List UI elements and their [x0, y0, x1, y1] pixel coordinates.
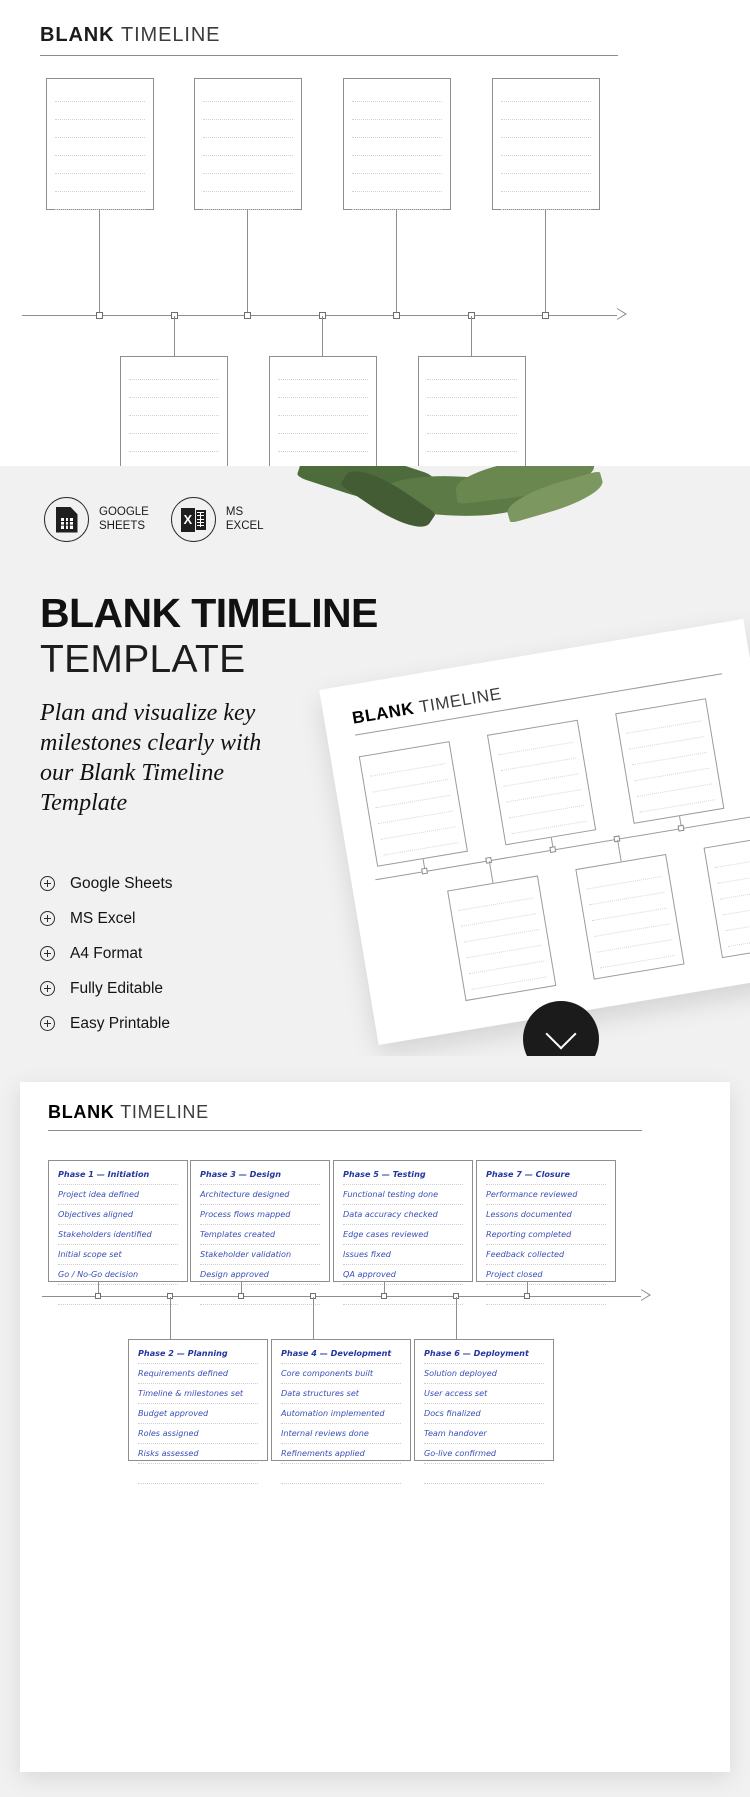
phase-title: Phase 4 — Development: [281, 1348, 401, 1364]
sheet-milestone-node-7: [524, 1293, 530, 1299]
preview-milestone-node-3: [549, 846, 556, 853]
phase-item: Stakeholders identified: [58, 1229, 178, 1245]
page-title: BLANK TIMELINE: [40, 24, 618, 47]
marketing-section: BLANK TIMELINE: [0, 466, 750, 1056]
milestone-node-7: [542, 312, 549, 319]
circled-plus-icon: [40, 911, 55, 926]
timeline-card-top-1: [46, 78, 154, 210]
marketing-heading: BLANK TIMELINE: [40, 590, 378, 637]
badge-line2: EXCEL: [226, 520, 264, 532]
feature-label: A4 Format: [70, 945, 142, 963]
card-ruled-lines: [427, 379, 517, 477]
phase-card-5: Phase 5 — Testing Functional testing don…: [333, 1160, 473, 1282]
phase-item: Project idea defined: [58, 1189, 178, 1205]
phase-item: Functional testing done: [343, 1189, 463, 1205]
preview-card-bottom-3: [704, 833, 750, 959]
arrow-right-icon: [641, 1289, 651, 1301]
connector-top-2: [247, 210, 248, 315]
phase-item: Internal reviews done: [281, 1428, 401, 1444]
sheet-header: BLANK TIMELINE: [48, 1102, 642, 1131]
badge-ms-excel[interactable]: MS EXCEL: [171, 497, 264, 542]
ms-excel-icon: [171, 497, 216, 542]
phase-item: Project closed: [486, 1269, 606, 1285]
phase-item: Team handover: [424, 1428, 544, 1444]
marketing-lede: Plan and visualize key milestones clearl…: [40, 698, 290, 818]
badge-line1: GOOGLE: [99, 506, 149, 518]
badge-google-sheets[interactable]: GOOGLE SHEETS: [44, 497, 149, 542]
connector-top-3: [396, 210, 397, 315]
circled-plus-icon: [40, 1016, 55, 1031]
marketing-subheading: TEMPLATE: [40, 638, 245, 682]
preview-card-top-1: [359, 741, 468, 867]
preview-connector-bottom-2: [617, 840, 622, 862]
card-ruled-lines: [129, 379, 219, 477]
phase-card-6: Phase 6 — Deployment Solution deployed U…: [414, 1339, 554, 1461]
phase-item: Refinements applied: [281, 1448, 401, 1464]
title-divider: [40, 55, 618, 56]
timeline-card-top-4: [492, 78, 600, 210]
phase-item: Requirements defined: [138, 1368, 258, 1384]
sheet-timeline-axis: [42, 1296, 642, 1297]
connector-bottom-2: [322, 316, 323, 356]
phase-item: Budget approved: [138, 1408, 258, 1424]
phase-item: Initial scope set: [58, 1249, 178, 1265]
phase-item: Design approved: [200, 1269, 320, 1285]
feature-item: A4 Format: [40, 936, 173, 971]
sheet-connector-bottom-4: [313, 1297, 314, 1339]
milestone-node-1: [96, 312, 103, 319]
format-badges: GOOGLE SHEETS MS EXCEL: [44, 497, 264, 542]
sheet-title: BLANK TIMELINE: [48, 1102, 642, 1123]
phase-card-3: Phase 3 — Design Architecture designed P…: [190, 1160, 330, 1282]
phase-item: Lessons documented: [486, 1209, 606, 1225]
arrow-right-icon: [617, 308, 627, 320]
card-ruled-lines: [55, 101, 145, 199]
phase-item: Architecture designed: [200, 1189, 320, 1205]
phase-title: Phase 7 — Closure: [486, 1169, 606, 1185]
hero-timeline: [0, 68, 750, 438]
sheet-title-light: TIMELINE: [120, 1102, 209, 1122]
preview-milestone-node-1: [421, 868, 428, 875]
phase-item: Data accuracy checked: [343, 1209, 463, 1225]
phase-card-4: Phase 4 — Development Core components bu…: [271, 1339, 411, 1461]
hero-document-header: BLANK TIMELINE: [40, 24, 618, 56]
preview-card-top-3: [615, 698, 724, 824]
connector-top-4: [545, 210, 546, 315]
page-title-light: TIMELINE: [121, 24, 220, 46]
phase-title: Phase 1 — Initiation: [58, 1169, 178, 1185]
phase-item: Go / No-Go decision: [58, 1269, 178, 1285]
phase-title: Phase 3 — Design: [200, 1169, 320, 1185]
preview-card-top-2: [487, 720, 596, 846]
timeline-card-top-2: [194, 78, 302, 210]
phase-item: Process flows mapped: [200, 1209, 320, 1225]
phase-item: Data structures set: [281, 1388, 401, 1404]
phase-title: Phase 2 — Planning: [138, 1348, 258, 1364]
circled-plus-icon: [40, 876, 55, 891]
phase-item: User access set: [424, 1388, 544, 1404]
phase-item: Reporting completed: [486, 1229, 606, 1245]
feature-item: Easy Printable: [40, 1006, 173, 1041]
preview-title-bold: BLANK: [351, 699, 416, 728]
sheet-connector-bottom-6: [456, 1297, 457, 1339]
feature-label: Easy Printable: [70, 1015, 170, 1033]
feature-label: Fully Editable: [70, 980, 163, 998]
page-title-bold: BLANK: [40, 24, 115, 46]
phase-item-blank: [138, 1468, 258, 1484]
card-ruled-lines: [278, 379, 368, 477]
phase-item: Issues fixed: [343, 1249, 463, 1265]
phase-item: Stakeholder validation: [200, 1249, 320, 1265]
sheet-milestone-node-1: [95, 1293, 101, 1299]
feature-list: Google Sheets MS Excel A4 Format Fully E…: [40, 866, 173, 1041]
phase-item: Objectives aligned: [58, 1209, 178, 1225]
milestone-node-3: [244, 312, 251, 319]
phase-item: Roles assigned: [138, 1428, 258, 1444]
connector-top-1: [99, 210, 100, 315]
phase-item: Automation implemented: [281, 1408, 401, 1424]
phase-item: Feedback collected: [486, 1249, 606, 1265]
badge-line1: MS: [226, 506, 243, 518]
sheet-connector-bottom-2: [170, 1297, 171, 1339]
phase-card-7: Phase 7 — Closure Performance reviewed L…: [476, 1160, 616, 1282]
card-ruled-lines: [203, 101, 293, 199]
bottom-preview-section: BLANK TIMELINE Phase 1 — Initiation Proj…: [0, 1056, 750, 1797]
phase-item-blank: [424, 1468, 544, 1484]
phase-item: Timeline & milestones set: [138, 1388, 258, 1404]
google-sheets-icon: [44, 497, 89, 542]
phase-item-blank: [281, 1468, 401, 1484]
phase-item: Go-live confirmed: [424, 1448, 544, 1464]
phase-item: Docs finalized: [424, 1408, 544, 1424]
feature-item: Fully Editable: [40, 971, 173, 1006]
phase-item: Templates created: [200, 1229, 320, 1245]
phase-item: Edge cases reviewed: [343, 1229, 463, 1245]
preview-card-bottom-2: [575, 854, 684, 980]
preview-card-bottom-1: [447, 875, 556, 1001]
badge-google-sheets-label: GOOGLE SHEETS: [99, 506, 149, 533]
sheet-milestone-node-3: [238, 1293, 244, 1299]
connector-bottom-3: [471, 316, 472, 356]
phase-card-2: Phase 2 — Planning Requirements defined …: [128, 1339, 268, 1461]
preview-connector-bottom-1: [489, 861, 494, 883]
feature-label: Google Sheets: [70, 875, 173, 893]
phase-item: Core components built: [281, 1368, 401, 1384]
card-ruled-lines: [501, 101, 591, 199]
card-ruled-lines: [352, 101, 442, 199]
phase-card-1: Phase 1 — Initiation Project idea define…: [48, 1160, 188, 1282]
feature-item: Google Sheets: [40, 866, 173, 901]
connector-bottom-1: [174, 316, 175, 356]
badge-line2: SHEETS: [99, 520, 145, 532]
hero-preview-section: BLANK TIMELINE: [0, 0, 750, 466]
badge-ms-excel-label: MS EXCEL: [226, 506, 264, 533]
sheet-title-bold: BLANK: [48, 1102, 115, 1122]
phase-item: Risks assessed: [138, 1448, 258, 1464]
phase-item: Solution deployed: [424, 1368, 544, 1384]
timeline-card-top-3: [343, 78, 451, 210]
circled-plus-icon: [40, 946, 55, 961]
sheet-milestone-node-5: [381, 1293, 387, 1299]
sheet-title-divider: [48, 1130, 642, 1131]
filled-template-sheet: BLANK TIMELINE Phase 1 — Initiation Proj…: [20, 1082, 730, 1772]
feature-item: MS Excel: [40, 901, 173, 936]
milestone-node-5: [393, 312, 400, 319]
feature-label: MS Excel: [70, 910, 135, 928]
phase-title: Phase 6 — Deployment: [424, 1348, 544, 1364]
tilted-preview-sheet: BLANK TIMELINE: [319, 619, 750, 1045]
phase-item: QA approved: [343, 1269, 463, 1285]
circled-plus-icon: [40, 981, 55, 996]
phase-item: Performance reviewed: [486, 1189, 606, 1205]
phase-title: Phase 5 — Testing: [343, 1169, 463, 1185]
chevron-down-icon: [545, 1018, 576, 1049]
preview-milestone-node-5: [678, 825, 685, 832]
